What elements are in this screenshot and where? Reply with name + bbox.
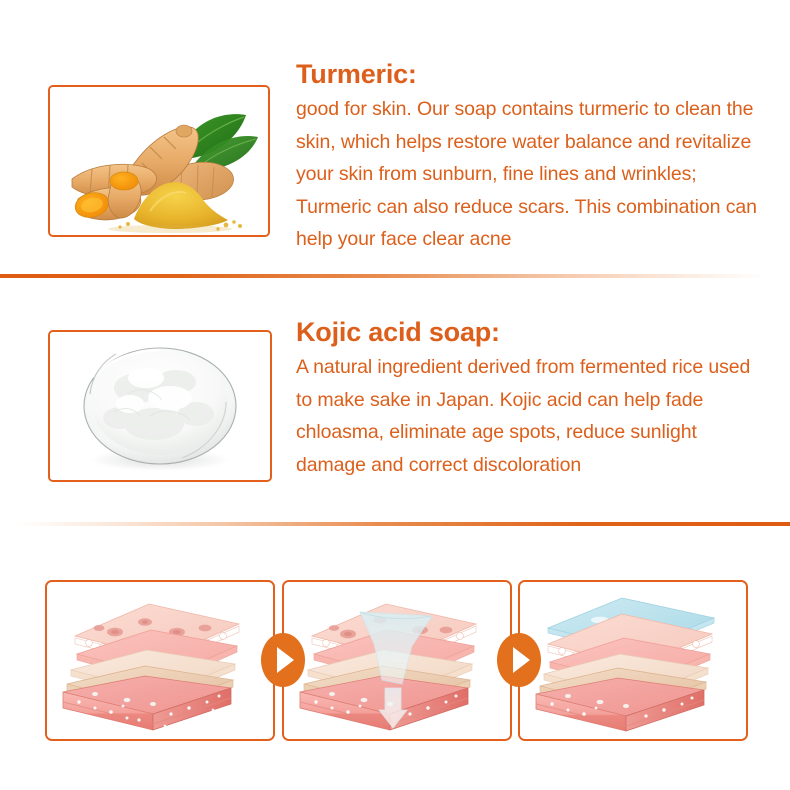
process-panel-step-1 bbox=[45, 580, 275, 741]
kojic-acid-text-block: Kojic acid soap: A natural ingredient de… bbox=[296, 316, 764, 481]
turmeric-photo-frame bbox=[48, 85, 270, 237]
kojic-acid-image bbox=[50, 332, 270, 480]
turmeric-text-block: Turmeric: good for skin. Our soap contai… bbox=[296, 58, 758, 256]
ingredient-section-kojic-acid: Kojic acid soap: A natural ingredient de… bbox=[0, 300, 790, 500]
play-arrow-icon bbox=[260, 632, 306, 688]
turmeric-description: good for skin. Our soap contains turmeri… bbox=[296, 93, 758, 256]
ingredient-section-turmeric: Turmeric: good for skin. Our soap contai… bbox=[0, 0, 790, 275]
clear-protected-skin-illustration bbox=[520, 582, 746, 739]
process-panel-step-2 bbox=[282, 580, 512, 741]
process-panel-step-3 bbox=[518, 580, 748, 741]
divider-top bbox=[0, 274, 790, 278]
kojic-acid-heading: Kojic acid soap: bbox=[296, 316, 764, 348]
kojic-acid-photo-frame bbox=[48, 330, 272, 482]
process-arrow-2 bbox=[496, 632, 542, 688]
process-arrow-1 bbox=[260, 632, 306, 688]
turmeric-image bbox=[50, 87, 268, 235]
divider-bottom bbox=[0, 522, 790, 526]
play-arrow-icon bbox=[496, 632, 542, 688]
ingredient-penetrating-skin-illustration bbox=[284, 582, 510, 739]
kojic-acid-description: A natural ingredient derived from fermen… bbox=[296, 351, 764, 481]
skin-layers-with-blemishes-illustration bbox=[47, 582, 273, 739]
skin-process-diagram bbox=[0, 580, 790, 745]
turmeric-heading: Turmeric: bbox=[296, 58, 758, 90]
